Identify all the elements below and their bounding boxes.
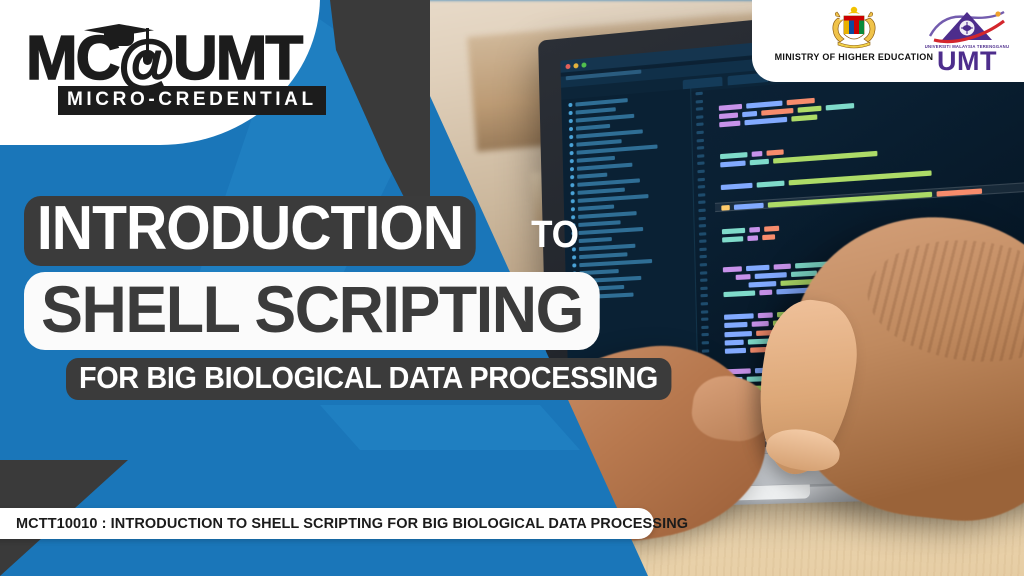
title-connector-to: TO	[531, 216, 579, 266]
course-code-banner: MCTT10010 : INTRODUCTION TO SHELL SCRIPT…	[0, 508, 654, 539]
ministry-label: MINISTRY OF HIGHER EDUCATION	[775, 52, 934, 62]
title-shell-scripting: SHELL SCRIPTING	[24, 272, 600, 350]
mcumt-wordmark: MC@UMT	[26, 28, 301, 91]
umt-acronym: UMT	[924, 48, 1010, 75]
title-stack: INTRODUCTION TO SHELL SCRIPTING FOR BIG …	[24, 196, 544, 400]
umt-logo: UNIVERSITI MALAYSIA TERENGGANU UMT	[924, 8, 1010, 74]
course-code-text: MCTT10010 : INTRODUCTION TO SHELL SCRIPT…	[16, 516, 688, 532]
title-subtitle: FOR BIG BIOLOGICAL DATA PROCESSING	[66, 358, 671, 400]
umt-mountain-logo-icon	[924, 8, 1010, 48]
graduation-cap-icon	[84, 18, 154, 48]
mcumt-subtitle: MICRO-CREDENTIAL	[58, 86, 326, 115]
mcumt-logo: MC@UMT MICRO-CREDENTIAL	[22, 12, 290, 104]
ministry-block: MINISTRY OF HIGHER EDUCATION	[774, 6, 934, 76]
course-poster: MC@UMT MICRO-CREDENTIAL	[0, 0, 1024, 576]
malaysia-coat-of-arms-icon	[822, 6, 886, 50]
title-line-1: INTRODUCTION TO	[24, 196, 544, 266]
institution-logo-panel: MINISTRY OF HIGHER EDUCATION UNIVERSITI …	[752, 0, 1024, 82]
title-introduction: INTRODUCTION	[24, 196, 476, 266]
